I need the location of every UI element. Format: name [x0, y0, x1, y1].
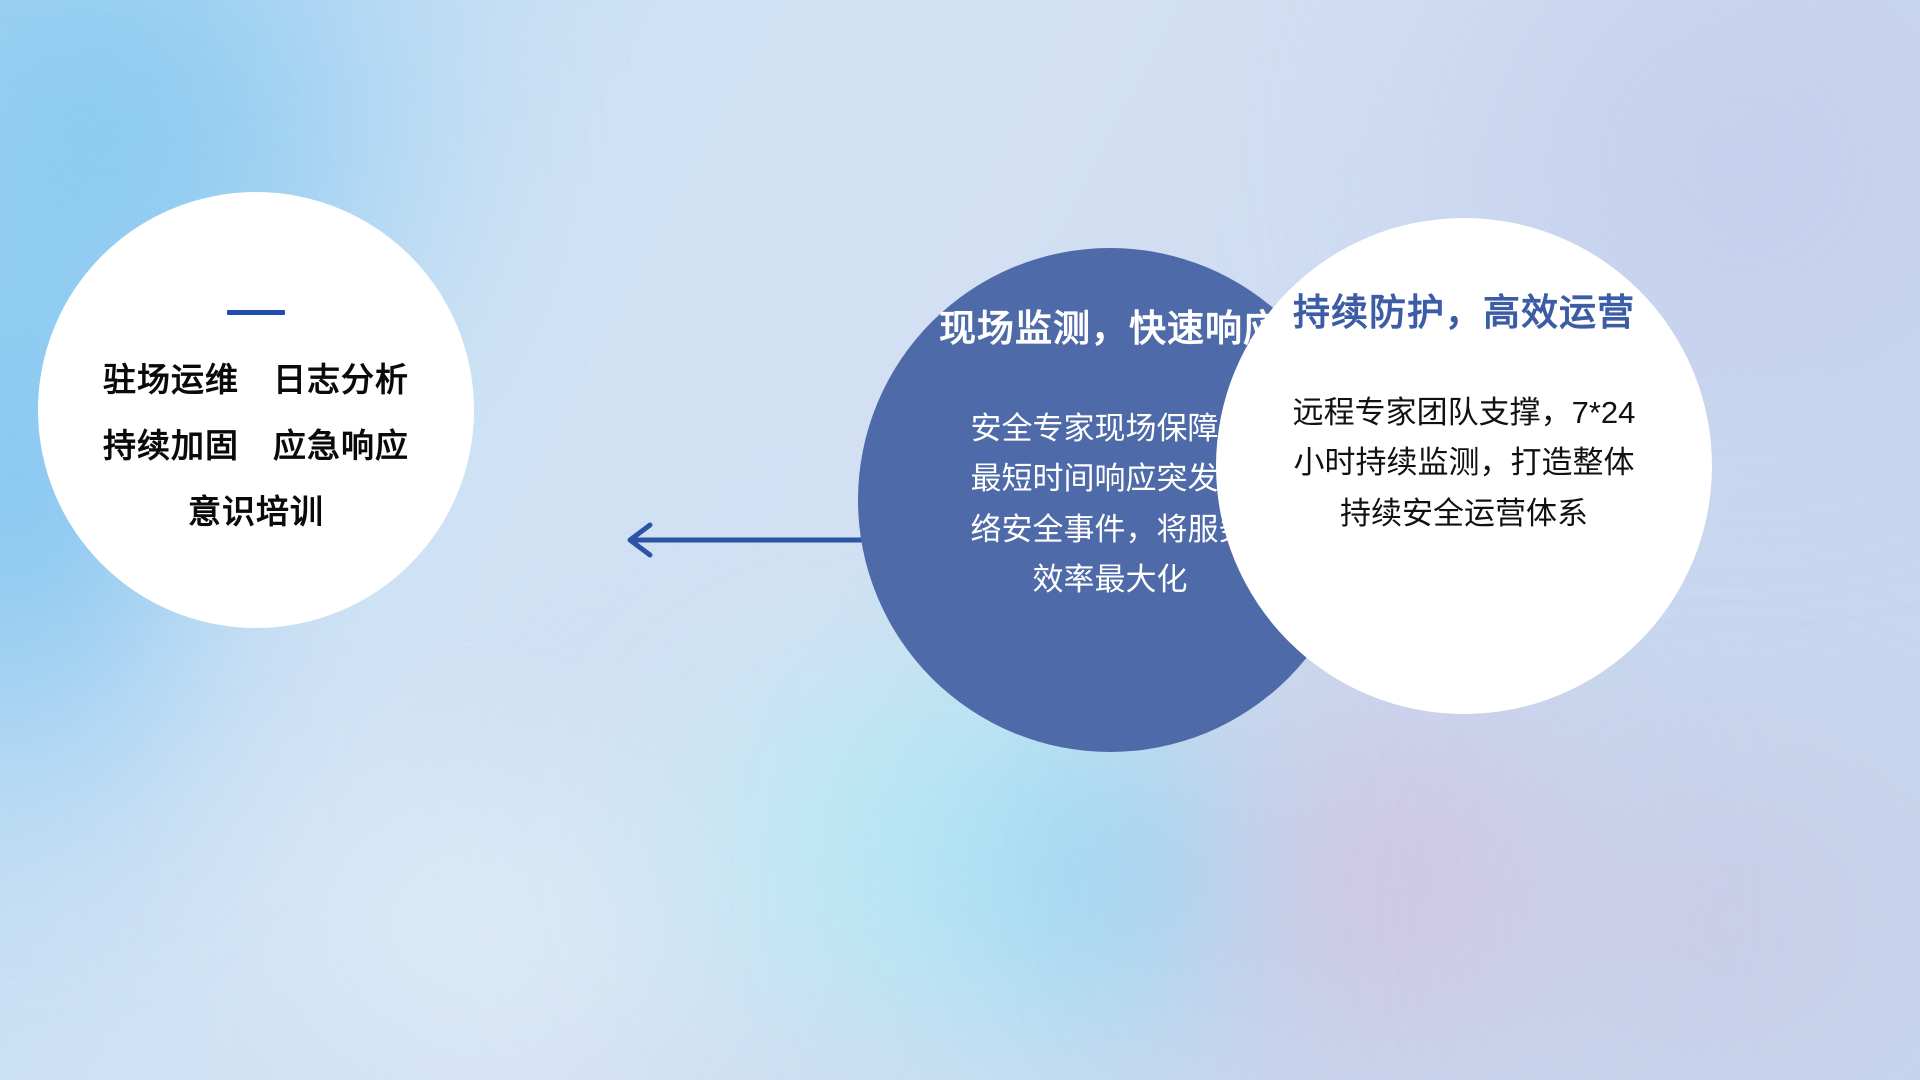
remote-operations-circle: 持续防护，高效运营 远程专家团队支撑，7*24小时持续监测，打造整体持续安全运营… [1216, 218, 1712, 714]
remote-title: 持续防护，高效运营 [1293, 290, 1635, 336]
capability-line-2: 持续加固 应急响应 [103, 429, 409, 462]
remote-body: 远程专家团队支撑，7*24小时持续监测，打造整体持续安全运营体系 [1279, 388, 1649, 539]
capability-line-3: 意识培训 [188, 495, 324, 528]
divider-dash [227, 310, 285, 315]
flow-arrow-left-icon [600, 518, 880, 562]
onsite-body: 安全专家现场保障，最短时间响应突发网络安全事件，将服务效率最大化 [960, 404, 1260, 605]
onsite-title: 现场监测，快速响应 [939, 306, 1281, 352]
capabilities-circle: 驻场运维 日志分析 持续加固 应急响应 意识培训 [38, 192, 474, 628]
capability-line-1: 驻场运维 日志分析 [103, 363, 409, 396]
slide-canvas: 驻场运维 日志分析 持续加固 应急响应 意识培训 现场监测，快速响应 安全专家现… [0, 0, 1920, 1080]
